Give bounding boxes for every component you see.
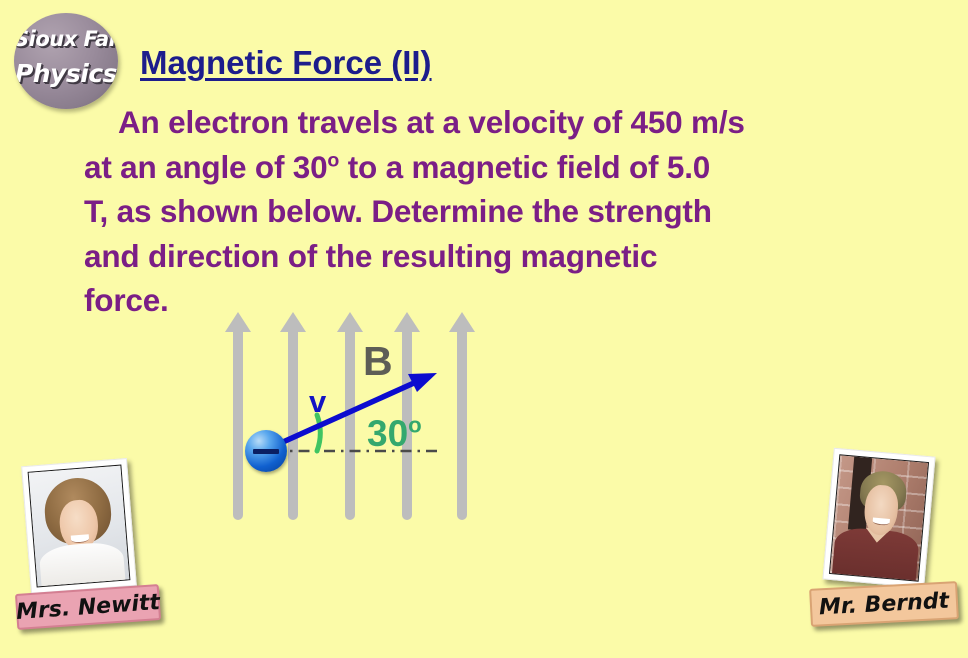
page-title: Magnetic Force (II): [140, 44, 432, 82]
magnetic-field-arrows: [225, 312, 475, 520]
nameplate-label: Mrs. Newitt: [15, 590, 160, 625]
teacher-photo-frame: [822, 448, 935, 588]
body-line-4: and direction of the resulting magnetic: [84, 238, 657, 274]
velocity-label-v: v: [309, 386, 326, 417]
body-line-5: force.: [84, 282, 169, 318]
teacher-photo: [829, 454, 929, 581]
body-line-3: T, as shown below. Determine the strengt…: [84, 193, 712, 229]
teacher-photo-frame: [21, 458, 137, 594]
negative-charge-sign: [253, 449, 279, 454]
nameplate-label: Mr. Berndt: [818, 588, 949, 620]
angle-arc: [317, 415, 320, 451]
body-line-1: An electron travels at a velocity of 450…: [118, 104, 745, 140]
electron-particle: [245, 430, 287, 472]
degree-symbol: o: [327, 149, 339, 171]
nameplate-berndt: Mr. Berndt: [809, 581, 959, 627]
field-arrow-5: [449, 312, 475, 520]
body-line-2b: to a magnetic field of 5.0: [339, 149, 710, 185]
angle-degree-symbol: o: [408, 413, 422, 438]
logo-line-2: Physics: [14, 59, 118, 88]
sioux-falls-physics-logo: Sioux Falls Physics: [14, 13, 118, 109]
teacher-card-berndt: Mr. Berndt: [800, 442, 968, 638]
teacher-photo: [28, 464, 131, 587]
diagram-svg: [225, 312, 485, 528]
logo-line-1: Sioux Falls: [14, 27, 118, 51]
field-arrow-2: [280, 312, 306, 520]
body-line-2a: at an angle of 30: [84, 149, 327, 185]
slide-canvas: Sioux Falls Physics Magnetic Force (II) …: [0, 0, 968, 658]
field-arrow-1: [225, 312, 251, 520]
angle-label: 30o: [367, 415, 422, 452]
field-label-B: B: [363, 341, 393, 382]
angle-value: 30: [367, 413, 408, 454]
teacher-card-newitt: Mrs. Newitt: [10, 450, 180, 640]
problem-statement: An electron travels at a velocity of 450…: [84, 100, 932, 323]
magnetic-force-diagram: B v 30o: [225, 312, 485, 528]
